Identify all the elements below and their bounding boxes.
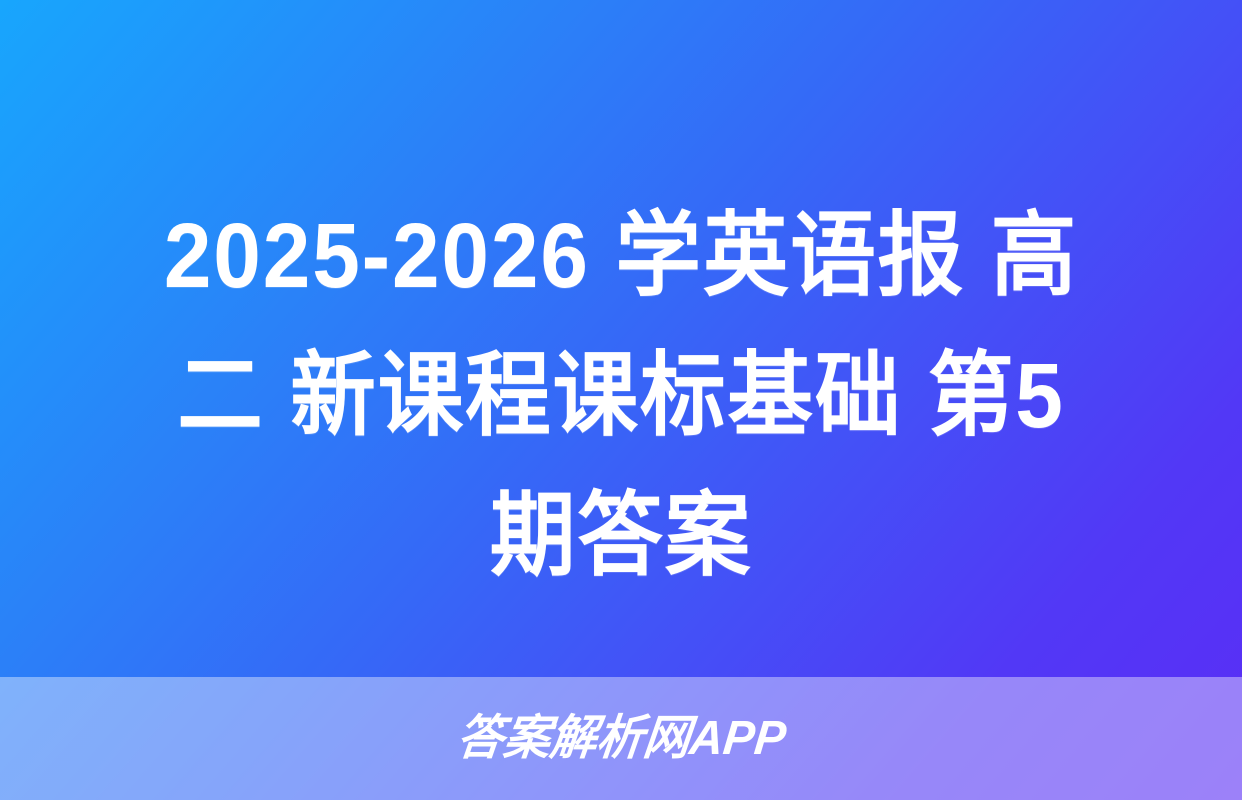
app-watermark-label: 答案解析网APP — [454, 711, 788, 767]
poster-canvas: 2025-2026 学英语报 高 二 新课程课标基础 第5 期答案 答案解析网A… — [0, 0, 1242, 800]
page-title: 2025-2026 学英语报 高 二 新课程课标基础 第5 期答案 — [0, 186, 1242, 606]
title-line-2: 二 新课程课标基础 第5 — [70, 326, 1173, 466]
title-line-3: 期答案 — [70, 466, 1173, 606]
watermark-band: 答案解析网APP — [0, 677, 1242, 800]
title-line-1: 2025-2026 学英语报 高 — [70, 186, 1173, 326]
